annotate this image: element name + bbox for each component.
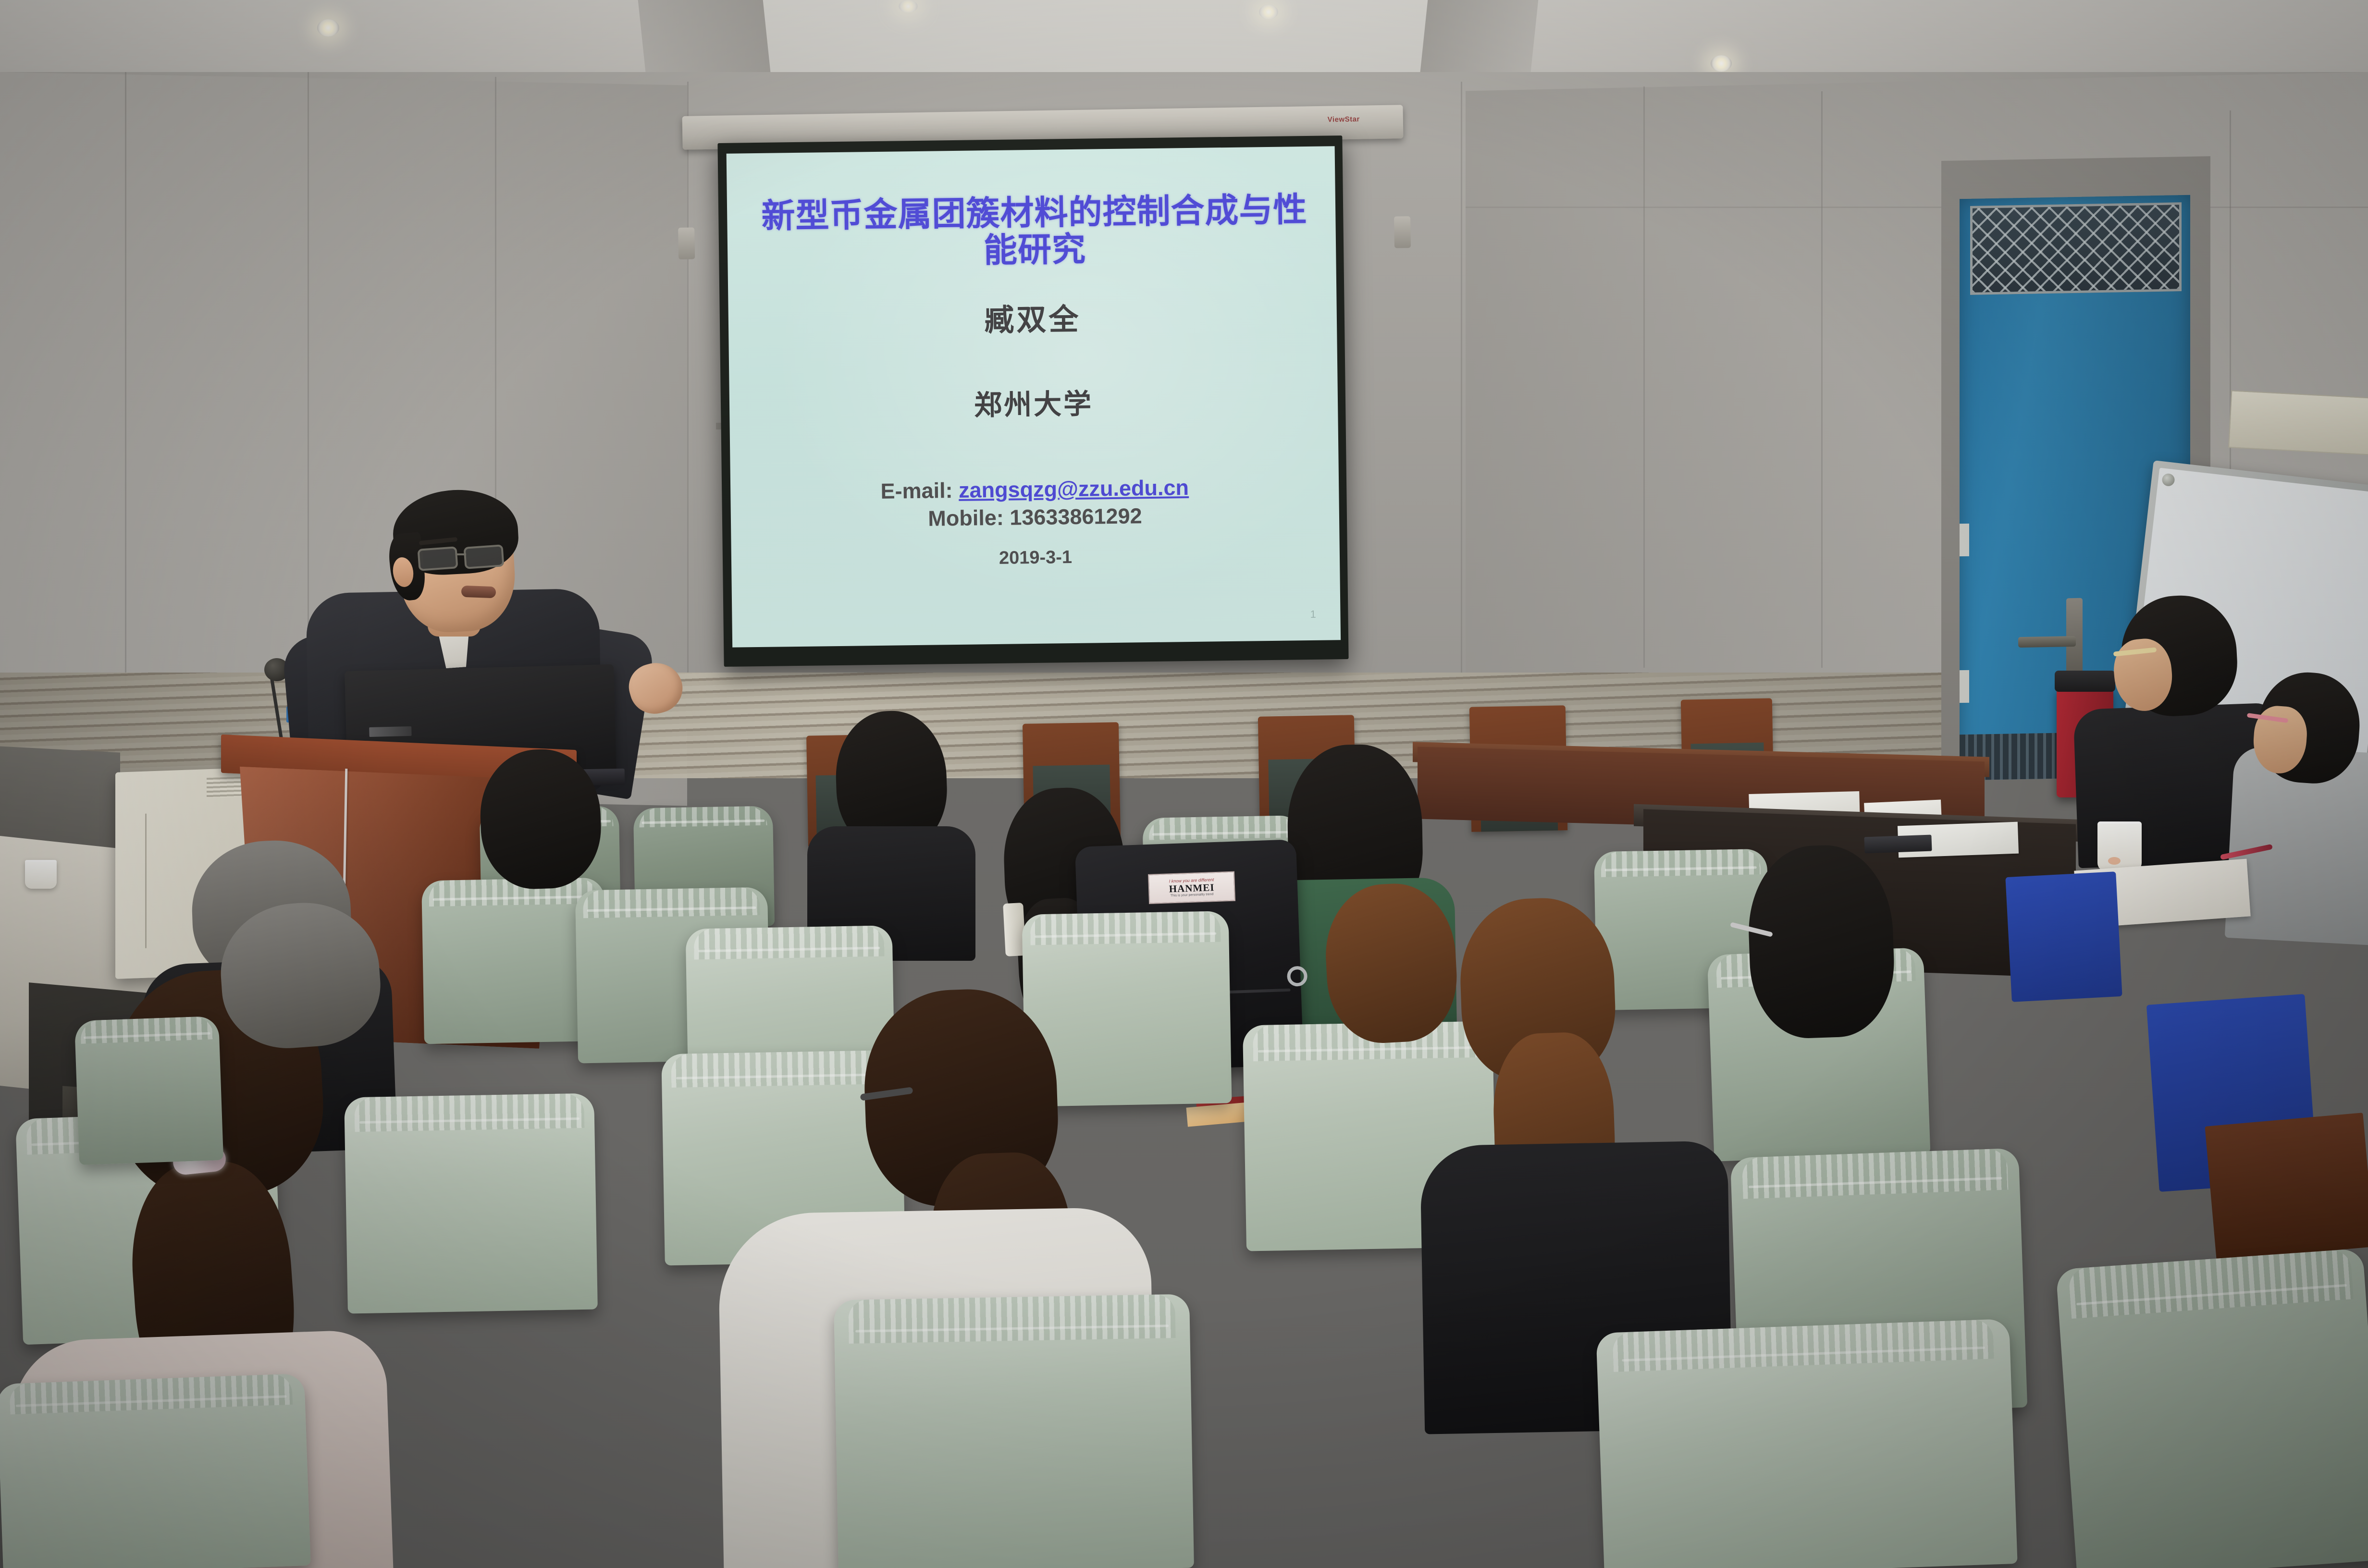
wall-seam [1643,86,1645,668]
backpack-brand-label: I know you are different HANMEI This is … [1148,871,1235,904]
eyeglasses-bridge [456,553,466,555]
auditorium-seat[interactable] [344,1093,598,1313]
wall-seam [687,82,689,673]
eyeglasses-icon [463,544,504,569]
auditorium-seat[interactable] [74,1016,223,1165]
door-handle[interactable] [2018,636,2076,648]
ceiling-downlight-icon [317,19,339,37]
slide-contact-block: E-mail: zangsqzg@zzu.edu.cn Mobile: 1363… [730,472,1339,535]
auditorium-seat[interactable] [0,1373,311,1568]
paper-cup [25,860,57,889]
auditorium-seat[interactable] [1596,1319,2017,1568]
auditorium-seat[interactable] [2005,871,2122,1002]
mobile-number: 13633861292 [1010,503,1142,529]
auditorium-seat-frame [2205,1113,2368,1261]
slide-author: 臧双全 [728,292,1337,343]
slide-title: 新型币金属团簇材料的控制合成与性能研究 [745,191,1324,272]
wall-seam [125,72,126,697]
eyeglasses-icon [417,546,458,571]
mobile-label: Mobile: [928,505,1004,531]
wall-seam [1466,207,2368,208]
audience-head [1746,843,1897,1040]
door-transom-window [1970,202,2182,295]
door-hinge [1960,670,1969,703]
wall-seam [308,72,309,682]
desk-paper [1186,1102,1250,1127]
slide-page-number: 1 [1310,608,1316,621]
auditorium-seat[interactable] [834,1294,1194,1568]
wall-vent [2228,390,2368,455]
laptop-logo [369,726,411,737]
lecture-hall-photo: ViewStar 新型币金属团簇材料的控制合成与性能研究 臧双全 郑州大学 E-… [0,0,2368,1568]
slide-organization: 郑州大学 [729,378,1338,426]
mobile-phone[interactable] [1864,835,1932,854]
wall-seam [1821,91,1823,668]
email-label: E-mail: [880,478,953,504]
auditorium-seat[interactable] [2056,1248,2368,1568]
ceiling-downlight-icon [1711,55,1732,72]
slide-surface: 新型币金属团簇材料的控制合成与性能研究 臧双全 郑州大学 E-mail: zan… [727,146,1341,647]
email-address: zangsqzg@zzu.edu.cn [959,476,1189,503]
ceiling-downlight-icon [1259,5,1278,19]
roller-brand-label: ViewStar [1328,115,1360,124]
projection-screen: 新型币金属团簇材料的控制合成与性能研究 臧双全 郑州大学 E-mail: zan… [717,135,1348,667]
door-hinge [1960,524,1969,556]
wall-seam [1461,82,1462,673]
ceiling-downlight-icon [899,0,918,12]
presenter-mouth [461,586,496,598]
paper-cup [2097,821,2142,871]
